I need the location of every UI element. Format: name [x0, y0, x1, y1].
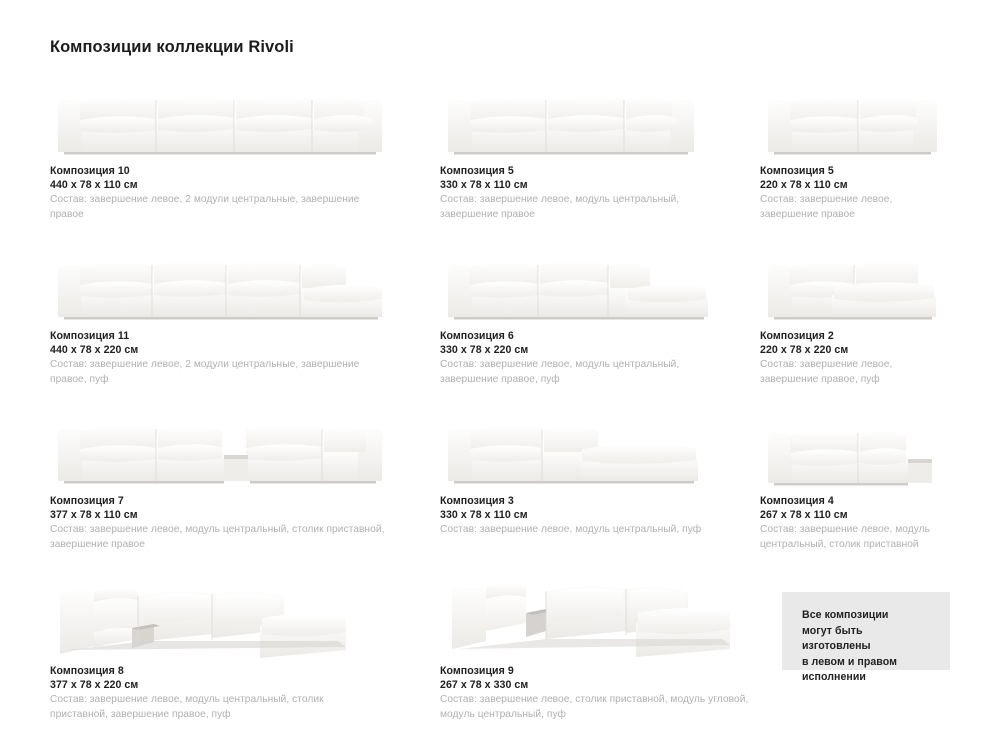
composition-name: Композиция 7 — [50, 494, 390, 508]
composition-name: Композиция 3 — [440, 494, 710, 508]
composition-caption-5: Композиция 2 220 x 78 x 220 см Состав: з… — [760, 329, 948, 387]
composition-desc: Состав: завершение левое, модуль централ… — [440, 193, 702, 222]
composition-image-2 — [760, 80, 945, 160]
composition-image-1 — [440, 80, 702, 160]
composition-desc: Состав: завершение левое, модуль централ… — [50, 693, 370, 722]
composition-card-10[interactable]: Композиция 9 267 x 78 x 330 см Состав: з… — [440, 565, 750, 722]
note-box: Все композиции могут быть изготовлены в … — [782, 592, 950, 670]
composition-dims: 267 x 78 x 110 см — [760, 508, 950, 522]
composition-image-0 — [50, 80, 390, 160]
composition-dims: 220 x 78 x 110 см — [760, 178, 945, 192]
sofa-illustration-corner-ottoman — [440, 565, 750, 660]
sofa-illustration-straight-4 — [50, 80, 390, 160]
composition-image-6 — [50, 405, 390, 490]
sofa-illustration-ottoman-3 — [440, 245, 715, 325]
composition-dims: 440 x 78 x 220 см — [50, 343, 390, 357]
composition-image-10 — [440, 565, 750, 660]
composition-desc: Состав: завершение левое, завершение пра… — [760, 193, 945, 222]
sofa-illustration-table-right — [760, 415, 950, 490]
composition-caption-9: Композиция 8 377 x 78 x 220 см Состав: з… — [50, 664, 370, 722]
sofa-illustration-ottoman-2 — [760, 245, 948, 325]
composition-desc: Состав: завершение левое, модуль централ… — [440, 523, 710, 538]
composition-image-3 — [50, 245, 390, 325]
composition-image-7 — [440, 405, 710, 490]
composition-image-5 — [760, 245, 948, 325]
composition-caption-3: Композиция 11 440 x 78 x 220 см Состав: … — [50, 329, 390, 387]
catalog-page: Композиции коллекции Rivoli — [0, 0, 1000, 750]
composition-name: Композиция 10 — [50, 164, 390, 178]
composition-caption-2: Композиция 5 220 x 78 x 110 см Состав: з… — [760, 164, 945, 222]
composition-card-5[interactable]: Композиция 2 220 x 78 x 220 см Состав: з… — [760, 245, 948, 387]
composition-dims: 377 x 78 x 110 см — [50, 508, 390, 522]
composition-card-6[interactable]: Композиция 7 377 x 78 x 110 см Состав: з… — [50, 405, 390, 552]
composition-desc: Состав: завершение левое, 2 модули центр… — [50, 193, 390, 222]
composition-desc: Состав: завершение левое, модуль централ… — [50, 523, 390, 552]
sofa-illustration-table-mid — [50, 405, 390, 490]
composition-card-9[interactable]: Композиция 8 377 x 78 x 220 см Состав: з… — [50, 572, 370, 722]
composition-name: Композиция 11 — [50, 329, 390, 343]
composition-card-8[interactable]: Композиция 4 267 x 78 x 110 см Состав: з… — [760, 415, 950, 552]
composition-name: Композиция 2 — [760, 329, 948, 343]
composition-desc: Состав: завершение левое, 2 модули центр… — [50, 358, 390, 387]
composition-caption-1: Композиция 5 330 x 78 x 110 см Состав: з… — [440, 164, 702, 222]
composition-dims: 267 x 78 x 330 см — [440, 678, 750, 692]
note-text: Все композиции могут быть изготовлены в … — [802, 608, 930, 686]
page-title: Композиции коллекции Rivoli — [50, 38, 294, 57]
composition-name: Композиция 5 — [760, 164, 945, 178]
composition-dims: 330 x 78 x 110 см — [440, 508, 710, 522]
composition-desc: Состав: завершение левое, столик пристав… — [440, 693, 750, 722]
composition-dims: 220 x 78 x 220 см — [760, 343, 948, 357]
composition-card-4[interactable]: Композиция 6 330 x 78 x 220 см Состав: з… — [440, 245, 715, 387]
composition-caption-8: Композиция 4 267 x 78 x 110 см Состав: з… — [760, 494, 950, 552]
composition-dims: 377 x 78 x 220 см — [50, 678, 370, 692]
composition-caption-7: Композиция 3 330 x 78 x 110 см Состав: з… — [440, 494, 710, 538]
composition-caption-4: Композиция 6 330 x 78 x 220 см Состав: з… — [440, 329, 715, 387]
composition-card-1[interactable]: Композиция 5 330 x 78 x 110 см Состав: з… — [440, 80, 702, 222]
composition-card-0[interactable]: Композиция 10 440 x 78 x 110 см Состав: … — [50, 80, 390, 222]
composition-dims: 330 x 78 x 110 см — [440, 178, 702, 192]
composition-dims: 440 x 78 x 110 см — [50, 178, 390, 192]
composition-image-8 — [760, 415, 950, 490]
composition-name: Композиция 4 — [760, 494, 950, 508]
composition-name: Композиция 6 — [440, 329, 715, 343]
composition-card-2[interactable]: Композиция 5 220 x 78 x 110 см Состав: з… — [760, 80, 945, 222]
composition-image-4 — [440, 245, 715, 325]
composition-caption-10: Композиция 9 267 x 78 x 330 см Состав: з… — [440, 664, 750, 722]
composition-desc: Состав: завершение левое, завершение пра… — [760, 358, 948, 387]
composition-card-3[interactable]: Композиция 11 440 x 78 x 220 см Состав: … — [50, 245, 390, 387]
composition-card-7[interactable]: Композиция 3 330 x 78 x 110 см Состав: з… — [440, 405, 710, 538]
sofa-illustration-ottoman-4 — [50, 245, 390, 325]
sofa-illustration-ottoman-wide — [440, 405, 710, 490]
composition-name: Композиция 9 — [440, 664, 750, 678]
composition-desc: Состав: завершение левое, модуль централ… — [760, 523, 950, 552]
sofa-illustration-straight-2 — [760, 80, 945, 160]
composition-caption-0: Композиция 10 440 x 78 x 110 см Состав: … — [50, 164, 390, 222]
composition-dims: 330 x 78 x 220 см — [440, 343, 715, 357]
sofa-illustration-straight-3 — [440, 80, 702, 160]
composition-image-9 — [50, 572, 370, 660]
sofa-illustration-corner-table — [50, 572, 370, 660]
composition-name: Композиция 8 — [50, 664, 370, 678]
composition-caption-6: Композиция 7 377 x 78 x 110 см Состав: з… — [50, 494, 390, 552]
composition-desc: Состав: завершение левое, модуль централ… — [440, 358, 715, 387]
composition-name: Композиция 5 — [440, 164, 702, 178]
